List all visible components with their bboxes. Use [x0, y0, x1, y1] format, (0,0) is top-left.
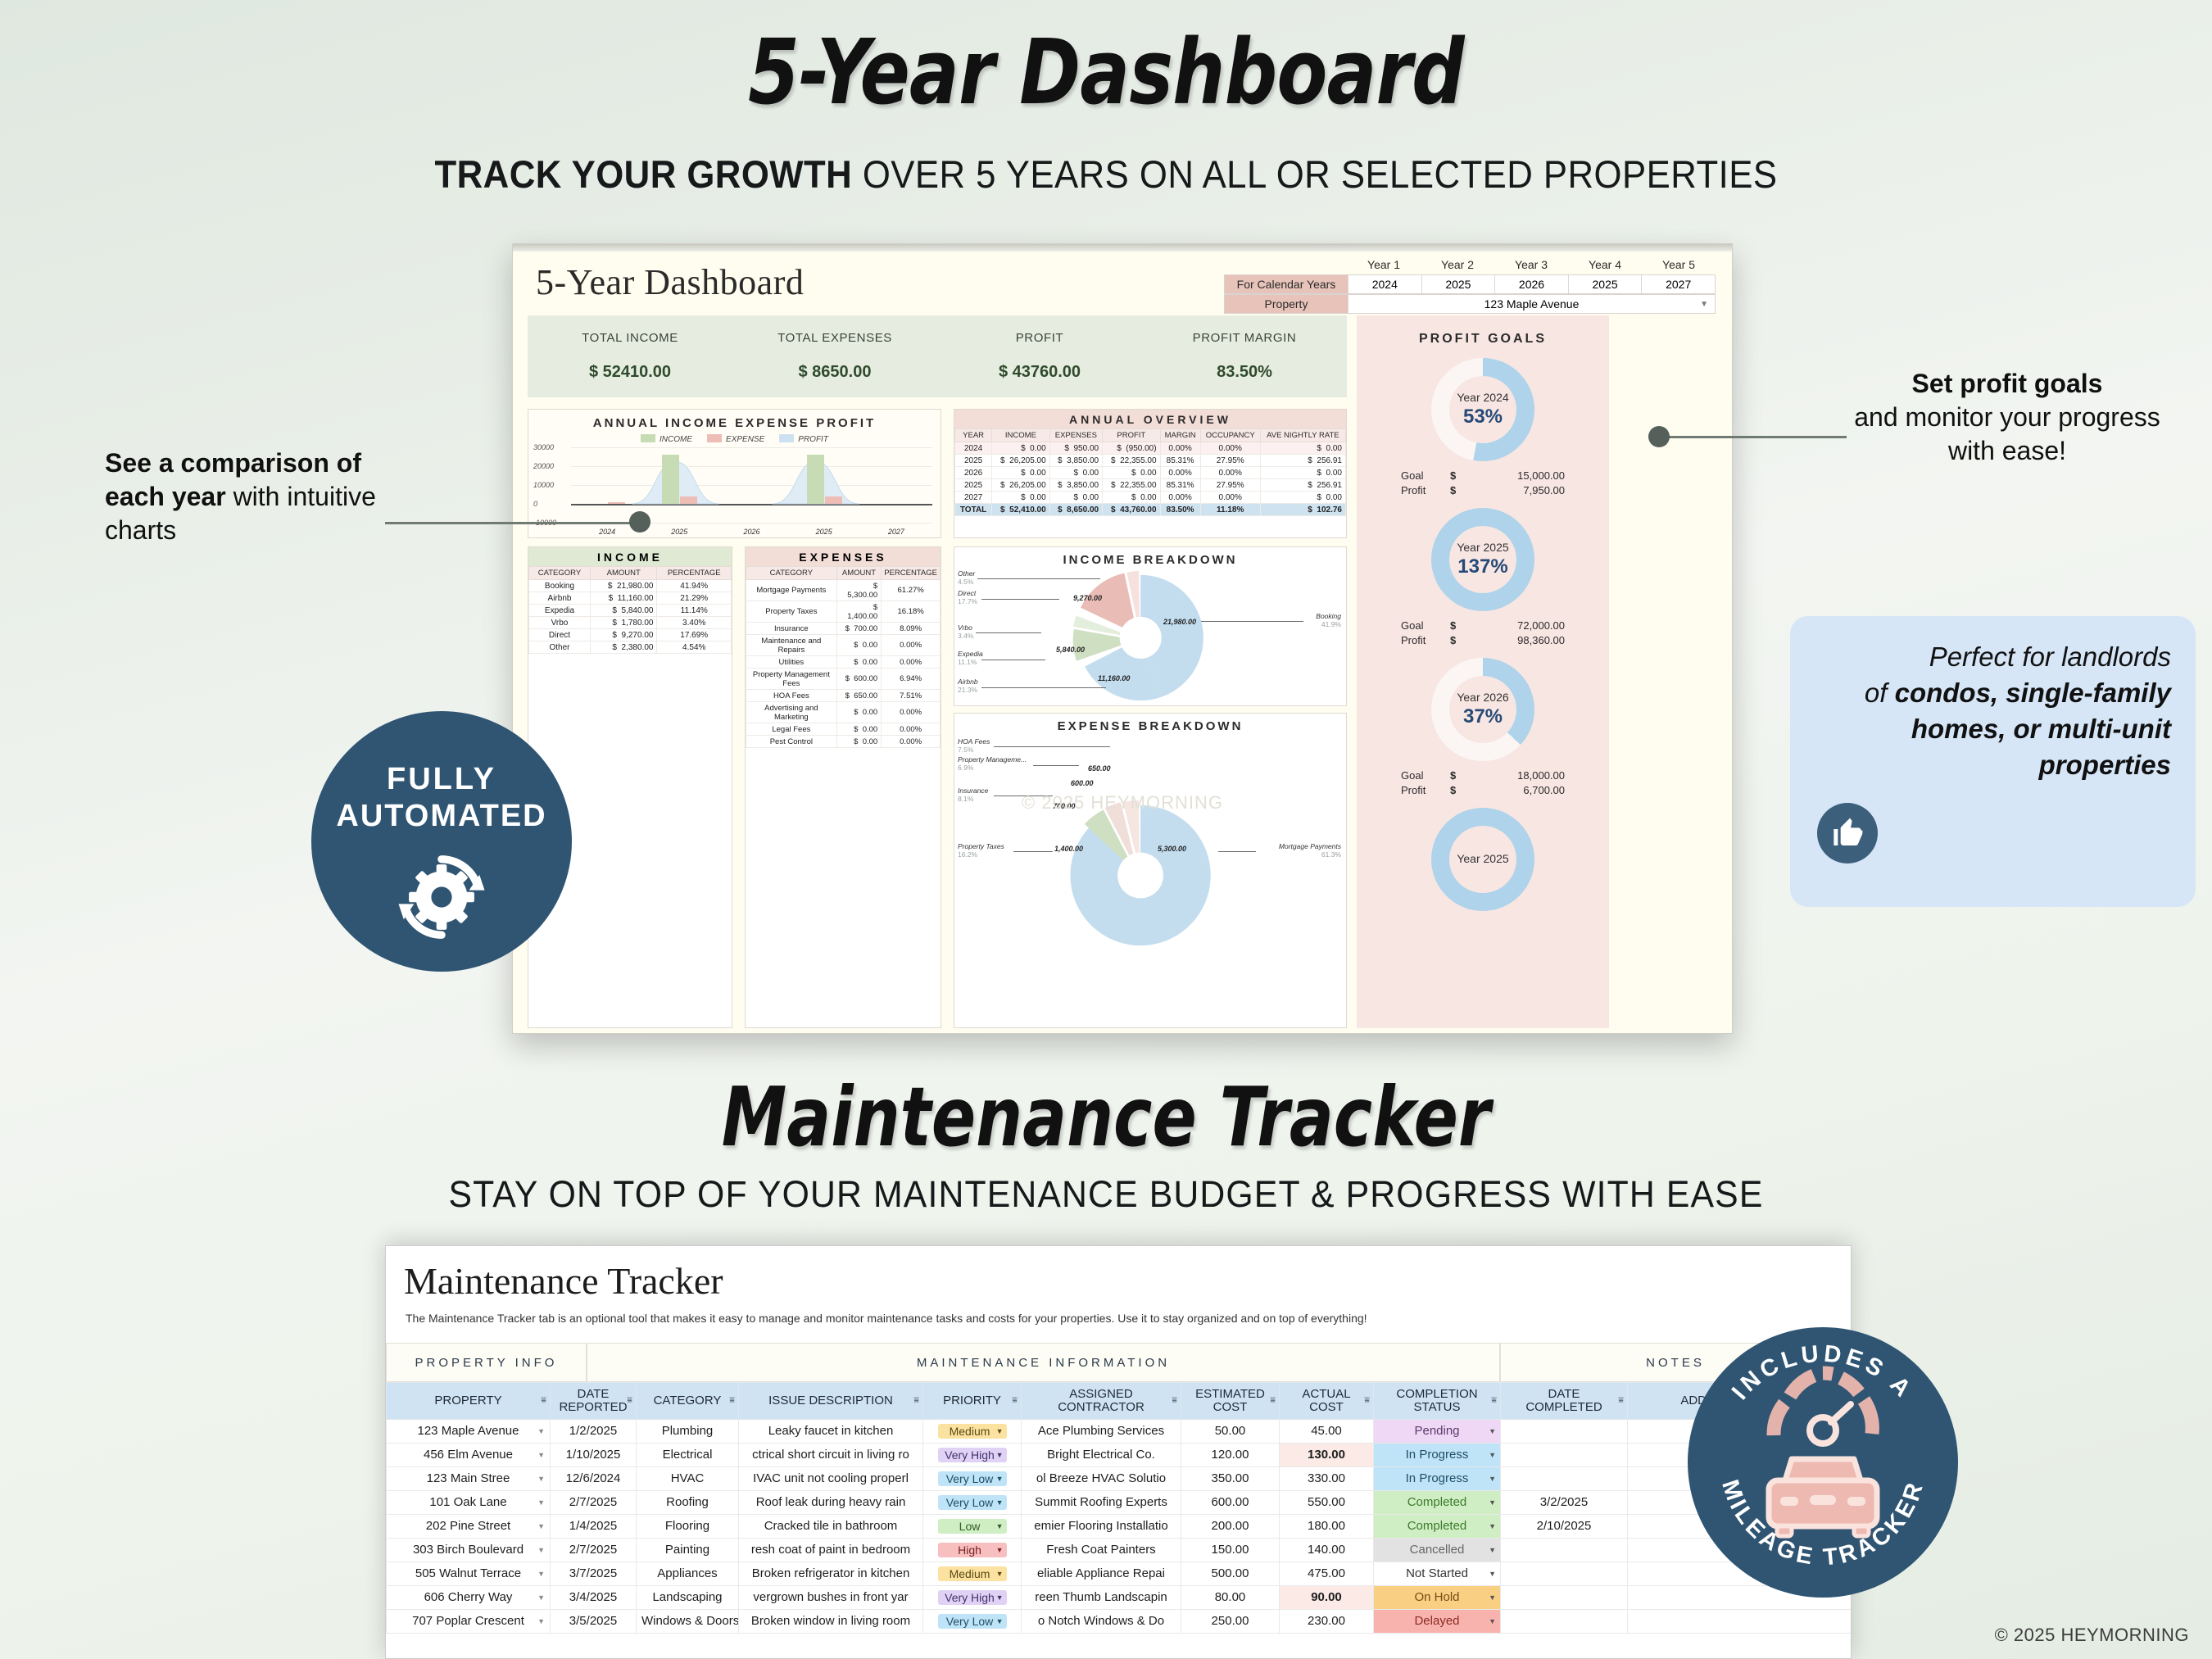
spreadsheet-canvas: 5-Year Dashboard Year 1 Year 2 Year 3 Ye…	[513, 252, 1732, 1033]
cell-issue-description: Cracked tile in bathroom	[739, 1514, 923, 1538]
calendar-years-row: For Calendar Years 2024 2025 2026 2025 2…	[1224, 274, 1716, 294]
ring-gauge: Year 202637%	[1431, 658, 1534, 761]
cell-property[interactable]: 123 Maple Avenue▼	[387, 1419, 551, 1443]
callout-right-dot	[1648, 426, 1670, 447]
table-cell-category: Property Management Fees	[746, 669, 837, 690]
kpi-value: $ 52410.00	[528, 363, 732, 382]
chevron-down-icon: ▼	[996, 1451, 1004, 1459]
chevron-down-icon[interactable]: ▼	[537, 1617, 545, 1625]
column-header: CATEGORY	[746, 567, 837, 580]
cell-estimated-cost: 200.00	[1181, 1514, 1280, 1538]
property-dropdown[interactable]: 123 Maple Avenue ▼	[1348, 295, 1715, 313]
table-cell: $ 0.00	[992, 442, 1049, 455]
table-cell-amount: $ 600.00	[836, 669, 882, 690]
cell-property[interactable]: 606 Cherry Way▼	[387, 1585, 551, 1609]
cell-completion-status[interactable]: On Hold▼	[1374, 1585, 1501, 1609]
filter-icon[interactable]: ⩸	[627, 1396, 632, 1406]
cell-date-reported: 3/7/2025	[551, 1562, 637, 1585]
table-cell: 27.95%	[1200, 455, 1260, 467]
cell-date-completed	[1501, 1443, 1628, 1466]
cell-priority[interactable]: Very Low▼	[923, 1466, 1022, 1490]
cell-date-reported: 12/6/2024	[551, 1466, 637, 1490]
page-title: 5-Year Dashboard	[199, 20, 2013, 125]
table-cell: $ 256.91	[1260, 479, 1345, 492]
chevron-down-icon[interactable]: ▼	[537, 1522, 545, 1530]
cell-priority[interactable]: Very Low▼	[923, 1490, 1022, 1514]
table-cell: 2027	[955, 492, 992, 504]
chevron-down-icon[interactable]: ▼	[537, 1451, 545, 1459]
footer-copyright: © 2025 HEYMORNING	[1995, 1625, 2189, 1646]
maintenance-table-wrap: PROPERTY⩸DATEREPORTED⩸CATEGORY⩸ISSUE DES…	[386, 1382, 1851, 1658]
table-cell-percentage: 11.14%	[657, 605, 732, 617]
table-cell-percentage: 4.54%	[657, 641, 732, 654]
table-cell: $ 0.00	[1103, 492, 1160, 504]
cell-contractor: Bright Electrical Co.	[1022, 1443, 1181, 1466]
callout-right-line	[1657, 436, 1847, 438]
column-header[interactable]: COMPLETIONSTATUS⩸	[1374, 1383, 1501, 1420]
chevron-down-icon: ▼	[1489, 1427, 1496, 1435]
column-header[interactable]: DATECOMPLETED⩸	[1501, 1383, 1628, 1420]
donut-value-expedia: 5,840.00	[1056, 646, 1085, 654]
column-header[interactable]: PROPERTY⩸	[387, 1383, 551, 1420]
maintenance-description: The Maintenance Tracker tab is an option…	[406, 1312, 1367, 1325]
cell-category: Electrical	[637, 1443, 739, 1466]
donut-label-expedia: Expedia11.1%	[958, 650, 983, 667]
chart-bar	[825, 496, 842, 504]
cell-issue-description: vergrown bushes in front yar	[739, 1585, 923, 1609]
table-cell-category: Pest Control	[746, 736, 837, 748]
income-table: CATEGORYAMOUNTPERCENTAGEBooking$ 21,980.…	[528, 566, 732, 654]
table-cell: $ 0.00	[1049, 467, 1102, 479]
table-row: 456 Elm Avenue▼1/10/2025Electricalctrica…	[387, 1443, 1852, 1466]
ring-gauge: Year 202453%	[1431, 358, 1534, 461]
cell-date-completed	[1501, 1609, 1628, 1633]
badge-fully-automated: FULLY AUTOMATED	[311, 711, 572, 972]
cell-contractor: o Notch Windows & Do	[1022, 1609, 1181, 1633]
maintenance-table: PROPERTY⩸DATEREPORTED⩸CATEGORY⩸ISSUE DES…	[386, 1382, 1852, 1634]
column-header: AMOUNT	[590, 567, 656, 580]
callout-left-dot	[629, 511, 650, 533]
table-row: 101 Oak Lane▼2/7/2025RoofingRoof leak du…	[387, 1490, 1852, 1514]
cell-date-completed: 3/2/2025	[1501, 1490, 1628, 1514]
chevron-down-icon: ▼	[996, 1475, 1004, 1483]
table-row: 2025$ 26,205.00$ 3,850.00$ 22,355.0085.3…	[955, 479, 1346, 492]
kpi-label: PROFIT	[937, 331, 1142, 345]
table-cell-amount: $ 11,160.00	[590, 592, 656, 605]
cell-estimated-cost: 50.00	[1181, 1419, 1280, 1443]
table-row: Mortgage Payments$ 5,300.0061.27%	[746, 580, 941, 601]
cell-additional-notes	[1628, 1609, 1852, 1633]
page-subtitle: TRACK YOUR GROWTH OVER 5 YEARS ON ALL OR…	[78, 152, 2135, 197]
calendar-years-label: For Calendar Years	[1225, 275, 1348, 293]
donut-label-mortgage-payments: Mortgage Payments61.3%	[1279, 843, 1341, 859]
badge-mileage-tracker: INCLUDES A MILEAGE TRACKER	[1688, 1327, 1958, 1598]
calendar-year-input[interactable]: 2027	[1641, 275, 1715, 293]
filter-icon[interactable]: ⩸	[1270, 1396, 1276, 1406]
cell-date-reported: 1/10/2025	[551, 1443, 637, 1466]
table-row: Advertising and Marketing$ 0.000.00%	[746, 702, 941, 723]
table-cell-amount: $ 700.00	[836, 623, 882, 635]
cell-date-reported: 2/7/2025	[551, 1490, 637, 1514]
cell-completion-status[interactable]: In Progress▼	[1374, 1466, 1501, 1490]
cell-property[interactable]: 707 Poplar Crescent▼	[387, 1609, 551, 1633]
cell-property[interactable]: 303 Birch Boulevard▼	[387, 1538, 551, 1562]
column-header[interactable]: DATEREPORTED⩸	[551, 1383, 637, 1420]
gear-refresh-icon	[311, 845, 572, 949]
expense-breakdown-chart: EXPENSE BREAKDOWN HOA Fees7.5%	[954, 713, 1347, 1028]
legend-label: PROFIT	[798, 435, 828, 444]
table-cell-percentage: 0.00%	[882, 656, 941, 669]
donut-label-airbnb: Airbnb21.3%	[958, 678, 978, 695]
donut-label-insurance: Insurance8.1%	[958, 787, 988, 804]
table-cell: $ 22,355.00	[1103, 479, 1160, 492]
year-header: Year 5	[1642, 258, 1716, 274]
kpi-value: $ 43760.00	[937, 363, 1142, 382]
sheet-title: 5-Year Dashboard	[536, 261, 804, 303]
cell-date-completed: 2/10/2025	[1501, 1514, 1628, 1538]
chevron-down-icon: ▼	[1489, 1593, 1496, 1602]
cell-contractor: Summit Roofing Experts	[1022, 1490, 1181, 1514]
chart-title: INCOME BREAKDOWN	[954, 553, 1346, 567]
filter-icon[interactable]: ⩸	[729, 1396, 735, 1406]
cell-completion-status[interactable]: Completed▼	[1374, 1490, 1501, 1514]
column-header[interactable]: ISSUE DESCRIPTION⩸	[739, 1383, 923, 1420]
column-header: CATEGORY	[529, 567, 591, 580]
table-cell-percentage: 41.94%	[657, 580, 732, 592]
table-cell: 83.50%	[1160, 504, 1200, 516]
cell-priority[interactable]: Medium▼	[923, 1562, 1022, 1585]
table-row: 123 Maple Avenue▼1/2/2025PlumbingLeaky f…	[387, 1419, 1852, 1443]
cell-issue-description: Leaky faucet in kitchen	[739, 1419, 923, 1443]
table-cell: $ 950.00	[1049, 442, 1102, 455]
cell-property[interactable]: 505 Walnut Terrace▼	[387, 1562, 551, 1585]
column-header[interactable]: OCCUPANCY	[1200, 429, 1260, 442]
filter-icon[interactable]: ⩸	[1364, 1396, 1370, 1406]
cell-category: Roofing	[637, 1490, 739, 1514]
chart-bar	[608, 502, 625, 504]
table-row: 707 Poplar Crescent▼3/5/2025Windows & Do…	[387, 1609, 1852, 1633]
cell-category: Appliances	[637, 1562, 739, 1585]
column-header: PERCENTAGE	[882, 567, 941, 580]
cell-issue-description: Broken refrigerator in kitchen	[739, 1562, 923, 1585]
column-header[interactable]: PROFIT	[1103, 429, 1160, 442]
cell-actual-cost: 130.00	[1280, 1443, 1374, 1466]
table-row: 202 Pine Street▼1/4/2025FlooringCracked …	[387, 1514, 1852, 1538]
cell-date-reported: 1/4/2025	[551, 1514, 637, 1538]
cell-category: Plumbing	[637, 1419, 739, 1443]
donut-label-other: Other4.5%	[958, 570, 975, 587]
column-header[interactable]: ASSIGNEDCONTRACTOR⩸	[1022, 1383, 1181, 1420]
calendar-year-input[interactable]: 2026	[1494, 275, 1568, 293]
column-header[interactable]: MARGIN	[1160, 429, 1200, 442]
table-row: Direct$ 9,270.0017.69%	[529, 629, 732, 641]
chevron-down-icon[interactable]: ▼	[537, 1546, 545, 1554]
chevron-down-icon: ▼	[1489, 1522, 1496, 1530]
table-cell-category: Legal Fees	[746, 723, 837, 736]
calendar-year-input[interactable]: 2025	[1421, 275, 1495, 293]
table-cell-percentage: 0.00%	[882, 635, 941, 656]
table-cell: $ 0.00	[1049, 492, 1102, 504]
table-cell: $ 3,850.00	[1049, 479, 1102, 492]
cell-contractor: Ace Plumbing Services	[1022, 1419, 1181, 1443]
table-row: Airbnb$ 11,160.0021.29%	[529, 592, 732, 605]
expenses-title: EXPENSES	[746, 547, 941, 566]
column-header[interactable]: PRIORITY⩸	[923, 1383, 1022, 1420]
income-title: INCOME	[528, 547, 732, 566]
cell-actual-cost: 550.00	[1280, 1490, 1374, 1514]
blue-box-line1: Perfect for landlords	[1815, 639, 2171, 675]
cell-estimated-cost: 250.00	[1181, 1609, 1280, 1633]
table-cell: 0.00%	[1200, 442, 1260, 455]
annual-income-expense-profit-chart: ANNUAL INCOME EXPENSE PROFIT INCOME EXPE…	[528, 409, 941, 538]
cell-date-reported: 3/5/2025	[551, 1609, 637, 1633]
column-header[interactable]: ESTIMATEDCOST⩸	[1181, 1383, 1280, 1420]
donut-value-booking: 21,980.00	[1163, 618, 1196, 626]
table-cell: 0.00%	[1160, 467, 1200, 479]
kpi-total-expenses: TOTAL EXPENSES $ 8650.00	[732, 331, 937, 382]
kpi-value: 83.50%	[1142, 363, 1347, 382]
kpi-label: PROFIT MARGIN	[1142, 331, 1347, 345]
table-row: 2025$ 26,205.00$ 3,850.00$ 22,355.0085.3…	[955, 455, 1346, 467]
table-cell-amount: $ 650.00	[836, 690, 882, 702]
cell-issue-description: Roof leak during heavy rain	[739, 1490, 923, 1514]
table-cell-amount: $ 0.00	[836, 723, 882, 736]
cell-completion-status[interactable]: Not Started▼	[1374, 1562, 1501, 1585]
table-cell: $ 102.76	[1260, 504, 1345, 516]
cell-contractor: eliable Appliance Repai	[1022, 1562, 1181, 1585]
cell-completion-status[interactable]: Completed▼	[1374, 1514, 1501, 1538]
table-cell-category: HOA Fees	[746, 690, 837, 702]
table-cell-percentage: 0.00%	[882, 723, 941, 736]
cell-completion-status[interactable]: Delayed▼	[1374, 1609, 1501, 1633]
donut-label-vrbo: Vrbo3.4%	[958, 624, 973, 641]
expense-donut-svg	[954, 733, 1346, 1026]
table-cell: $ 26,205.00	[992, 455, 1049, 467]
cell-priority[interactable]: Very Low▼	[923, 1609, 1022, 1633]
table-cell-amount: $ 9,270.00	[590, 629, 656, 641]
chevron-down-icon: ▼	[1489, 1475, 1496, 1483]
cell-completion-status[interactable]: Pending▼	[1374, 1419, 1501, 1443]
profit-goals-title: PROFIT GOALS	[1357, 332, 1609, 347]
chevron-down-icon[interactable]: ▼	[537, 1498, 545, 1507]
profit-goal-ring: Year 202637%Goal$18,000.00Profit$6,700.0…	[1357, 658, 1609, 796]
cell-date-reported: 3/4/2025	[551, 1585, 637, 1609]
cell-contractor: reen Thumb Landscapin	[1022, 1585, 1181, 1609]
maintenance-screenshot: Maintenance Tracker The Maintenance Trac…	[385, 1245, 1852, 1659]
donut-value-pm: 600.00	[1071, 779, 1094, 787]
chevron-down-icon: ▼	[1700, 300, 1708, 309]
cell-contractor: ol Breeze HVAC Solutio	[1022, 1466, 1181, 1490]
x-axis-tick: 2024	[599, 528, 615, 536]
column-header[interactable]: YEAR	[955, 429, 992, 442]
maintenance-title: Maintenance Tracker	[404, 1259, 723, 1303]
donut-value-mortgage: 5,300.00	[1158, 845, 1186, 853]
filter-icon[interactable]: ⩸	[1172, 1396, 1177, 1406]
table-cell-category: Utilities	[746, 656, 837, 669]
table-row: HOA Fees$ 650.007.51%	[746, 690, 941, 702]
kpi-profit-margin: PROFIT MARGIN 83.50%	[1142, 331, 1347, 382]
table-cell-category: Property Taxes	[746, 601, 837, 623]
year-header: Year 1	[1347, 258, 1421, 274]
cell-actual-cost: 140.00	[1280, 1538, 1374, 1562]
table-row: 123 Main Stree▼12/6/2024HVACIVAC unit no…	[387, 1466, 1852, 1490]
table-cell-category: Vrbo	[529, 617, 591, 629]
cell-date-completed	[1501, 1562, 1628, 1585]
table-cell: 11.18%	[1200, 504, 1260, 516]
donut-label-hoa-fees: HOA Fees7.5%	[958, 738, 990, 755]
table-cell-amount: $ 1,780.00	[590, 617, 656, 629]
table-cell: $ 0.00	[1260, 492, 1345, 504]
chart-plot-area: 3000020000100000-10000202420252026202520…	[533, 447, 936, 523]
cell-contractor: emier Flooring Installatio	[1022, 1514, 1181, 1538]
column-header[interactable]: CATEGORY⩸	[637, 1383, 739, 1420]
chevron-down-icon[interactable]: ▼	[537, 1475, 545, 1483]
table-cell: $ 0.00	[1260, 467, 1345, 479]
profit-goal-rings: Year 202453%Goal$15,000.00Profit$7,950.0…	[1357, 358, 1609, 911]
table-cell: 27.95%	[1200, 479, 1260, 492]
page-subtitle-bold: TRACK YOUR GROWTH	[434, 152, 852, 196]
section-title-maintenance: Maintenance Tracker	[221, 1069, 1991, 1165]
cell-property[interactable]: 101 Oak Lane▼	[387, 1490, 551, 1514]
table-cell: $ 0.00	[1260, 442, 1345, 455]
profit-goal-ring: Year 202453%Goal$15,000.00Profit$7,950.0…	[1357, 358, 1609, 496]
table-row: Booking$ 21,980.0041.94%	[529, 580, 732, 592]
svg-text:INCLUDES A: INCLUDES A	[1727, 1340, 1919, 1404]
group-header-maintenance-information: MAINTENANCE INFORMATION	[587, 1343, 1500, 1382]
table-cell-category: Insurance	[746, 623, 837, 635]
profit-area-series	[533, 447, 936, 523]
chevron-down-icon: ▼	[996, 1570, 1004, 1578]
table-cell-category: Other	[529, 641, 591, 654]
cell-category: Landscaping	[637, 1585, 739, 1609]
goal-profit-pair: Goal$72,000.00Profit$98,360.00	[1401, 619, 1565, 646]
cell-actual-cost: 45.00	[1280, 1419, 1374, 1443]
x-axis-tick: 2025	[671, 528, 687, 536]
cell-actual-cost: 475.00	[1280, 1562, 1374, 1585]
legend-expense: EXPENSE	[707, 434, 764, 444]
kpi-value: $ 8650.00	[732, 363, 937, 382]
cell-issue-description: Broken window in living room	[739, 1609, 923, 1633]
kpi-profit: PROFIT $ 43760.00	[937, 331, 1142, 382]
table-cell-category: Maintenance and Repairs	[746, 635, 837, 656]
donut-label-property-management: Property Manageme...6.9%	[958, 756, 1027, 773]
filter-icon[interactable]: ⩸	[913, 1396, 919, 1406]
donut-label-direct: Direct17.7%	[958, 590, 977, 606]
column-header[interactable]: INCOME	[992, 429, 1049, 442]
table-row: 303 Birch Boulevard▼2/7/2025Paintingresh…	[387, 1538, 1852, 1562]
table-row: Legal Fees$ 0.000.00%	[746, 723, 941, 736]
chevron-down-icon: ▼	[996, 1427, 1004, 1435]
chevron-down-icon: ▼	[1489, 1546, 1496, 1554]
poster-page: 5-Year Dashboard TRACK YOUR GROWTH OVER …	[0, 0, 2212, 1659]
watermark: © 2025 HEYMORNING	[1022, 792, 1223, 814]
callout-right-rest: and monitor your progress with ease!	[1854, 402, 2160, 465]
cell-issue-description: IVAC unit not cooling properl	[739, 1466, 923, 1490]
car-speedometer-icon: INCLUDES A MILEAGE TRACKER	[1688, 1327, 1958, 1598]
chevron-down-icon[interactable]: ▼	[537, 1570, 545, 1578]
filter-icon[interactable]: ⩸	[1012, 1396, 1018, 1406]
kpi-strip: TOTAL INCOME $ 52410.00 TOTAL EXPENSES $…	[528, 315, 1347, 397]
filter-icon[interactable]: ⩸	[541, 1396, 546, 1406]
cell-actual-cost: 90.00	[1280, 1585, 1374, 1609]
table-row: 2026$ 0.00$ 0.00$ 0.000.00%0.00%$ 0.00	[955, 467, 1346, 479]
cell-priority[interactable]: High▼	[923, 1538, 1022, 1562]
chevron-down-icon[interactable]: ▼	[537, 1593, 545, 1602]
cell-completion-status[interactable]: Cancelled▼	[1374, 1538, 1501, 1562]
annual-overview-title: ANNUAL OVERVIEW	[954, 410, 1346, 428]
table-cell-percentage: 3.40%	[657, 617, 732, 629]
cell-priority[interactable]: Low▼	[923, 1514, 1022, 1538]
cell-estimated-cost: 120.00	[1181, 1443, 1280, 1466]
cell-property[interactable]: 202 Pine Street▼	[387, 1514, 551, 1538]
column-header[interactable]: EXPENSES	[1049, 429, 1102, 442]
table-cell-amount: $ 2,380.00	[590, 641, 656, 654]
chart-title: EXPENSE BREAKDOWN	[954, 719, 1346, 733]
table-cell: 0.00%	[1200, 467, 1260, 479]
cell-priority[interactable]: Very High▼	[923, 1585, 1022, 1609]
filter-icon[interactable]: ⩸	[1491, 1396, 1497, 1406]
column-header[interactable]: AVE NIGHTLY RATE	[1260, 429, 1345, 442]
legend-label: EXPENSE	[726, 435, 764, 444]
table-cell-category: Expedia	[529, 605, 591, 617]
donut-value-property-taxes: 1,400.00	[1054, 845, 1083, 853]
table-cell: $ 26,205.00	[992, 479, 1049, 492]
cell-priority[interactable]: Medium▼	[923, 1419, 1022, 1443]
chevron-down-icon: ▼	[996, 1498, 1004, 1507]
table-cell-percentage: 21.29%	[657, 592, 732, 605]
cell-estimated-cost: 150.00	[1181, 1538, 1280, 1562]
table-cell: $ 0.00	[992, 492, 1049, 504]
table-cell-amount: $ 0.00	[836, 736, 882, 748]
year-header: Year 3	[1494, 258, 1568, 274]
cell-priority[interactable]: Very High▼	[923, 1443, 1022, 1466]
column-header: PERCENTAGE	[657, 567, 732, 580]
chevron-down-icon: ▼	[996, 1593, 1004, 1602]
calendar-year-input[interactable]: 2025	[1568, 275, 1642, 293]
table-cell: 85.31%	[1160, 479, 1200, 492]
table-cell-percentage: 8.09%	[882, 623, 941, 635]
table-cell: $ 22,355.00	[1103, 455, 1160, 467]
column-header[interactable]: ACTUALCOST⩸	[1280, 1383, 1374, 1420]
cell-property[interactable]: 123 Main Stree▼	[387, 1466, 551, 1490]
cell-actual-cost: 330.00	[1280, 1466, 1374, 1490]
table-cell: 2024	[955, 442, 992, 455]
cell-completion-status[interactable]: In Progress▼	[1374, 1443, 1501, 1466]
table-cell: TOTAL	[955, 504, 992, 516]
cell-estimated-cost: 600.00	[1181, 1490, 1280, 1514]
table-row: Insurance$ 700.008.09%	[746, 623, 941, 635]
table-cell-percentage: 17.69%	[657, 629, 732, 641]
table-cell-category: Direct	[529, 629, 591, 641]
chevron-down-icon: ▼	[996, 1617, 1004, 1625]
filter-icon[interactable]: ⩸	[1618, 1396, 1624, 1406]
kpi-label: TOTAL INCOME	[528, 331, 732, 345]
table-cell: 0.00%	[1160, 492, 1200, 504]
table-cell: $ (950.00)	[1103, 442, 1160, 455]
cell-property[interactable]: 456 Elm Avenue▼	[387, 1443, 551, 1466]
table-row: Maintenance and Repairs$ 0.000.00%	[746, 635, 941, 656]
chevron-down-icon[interactable]: ▼	[537, 1427, 545, 1435]
column-header: AMOUNT	[836, 567, 882, 580]
cell-actual-cost: 180.00	[1280, 1514, 1374, 1538]
table-row: 2024$ 0.00$ 950.00$ (950.00)0.00%0.00%$ …	[955, 442, 1346, 455]
year-header: Year 4	[1568, 258, 1642, 274]
year-header: Year 2	[1421, 258, 1494, 274]
calendar-year-input[interactable]: 2024	[1348, 275, 1421, 293]
table-cell-percentage: 6.94%	[882, 669, 941, 690]
donut-label-booking: Booking41.9%	[1316, 613, 1341, 629]
chart-legend: INCOME EXPENSE PROFIT	[528, 434, 941, 444]
